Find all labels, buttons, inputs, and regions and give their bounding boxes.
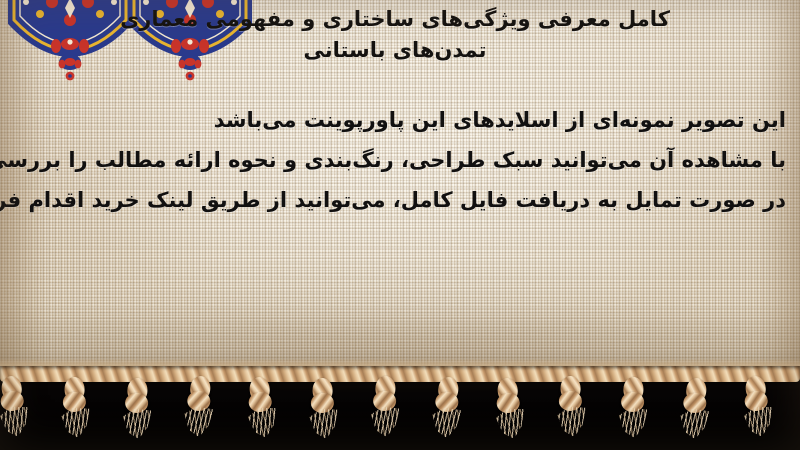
fringe-tassel [676,377,714,437]
fringe-tassel [119,378,155,437]
slide-body-line-2: با مشاهده آن می‌توانید سبک طراحی، رنگ‌بن… [0,140,786,180]
fringe-tassel [367,376,403,435]
tassel-strands [369,407,400,438]
fringe-tassel [0,375,32,435]
fringe-tassel [738,375,776,435]
slide-body: این تصویر نمونه‌ای از اسلایدهای این پاور… [0,100,786,220]
tassel-strands [556,407,587,438]
slide-title-line-2: تمدن‌های باستانی [0,35,800,66]
slide-body-line-3: در صورت تمایل به دریافت فایل کامل، می‌تو… [0,180,786,220]
tassel-strands [121,409,152,440]
fringe-tassel [428,376,466,436]
slide-canvas: کامل معرفی ویژگی‌های ساختاری و مفهومی مع… [0,0,800,450]
tassel-strands [308,409,339,440]
fringe-tassel [615,377,651,436]
tassel-strands [617,408,648,439]
fringe-tassel [180,375,218,435]
fringe-tassel [242,376,280,436]
fringe-tassel [305,378,341,437]
fringe-tassel [57,377,93,436]
slide-body-line-1: این تصویر نمونه‌ای از اسلایدهای این پاور… [0,100,786,140]
fringe-tassel [553,376,589,435]
slide-title-line-1: کامل معرفی ویژگی‌های ساختاری و مفهومی مع… [0,4,800,35]
slide-title: کامل معرفی ویژگی‌های ساختاری و مفهومی مع… [0,4,800,66]
tassel-strands [60,408,91,439]
fringe-tassel [490,377,528,437]
